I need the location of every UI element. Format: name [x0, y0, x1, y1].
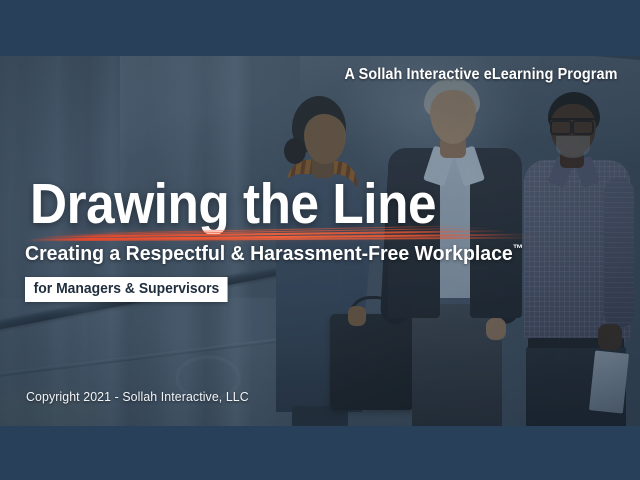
program-label: A Sollah Interactive eLearning Program: [345, 66, 618, 84]
page-title: Drawing the Line: [30, 175, 436, 233]
copyright-notice: Copyright 2021 - Sollah Interactive, LLC: [26, 389, 249, 404]
audience-badge: for Managers & Supervisors: [25, 277, 228, 302]
text-overlay: A Sollah Interactive eLearning Program D…: [0, 0, 640, 480]
red-line-3: [24, 237, 536, 241]
trademark-symbol: ™: [513, 243, 523, 255]
page-subtitle: Creating a Respectful & Harassment-Free …: [25, 242, 523, 266]
subtitle-text: Creating a Respectful & Harassment-Free …: [25, 242, 513, 265]
title-slide: A Sollah Interactive eLearning Program D…: [0, 0, 640, 480]
